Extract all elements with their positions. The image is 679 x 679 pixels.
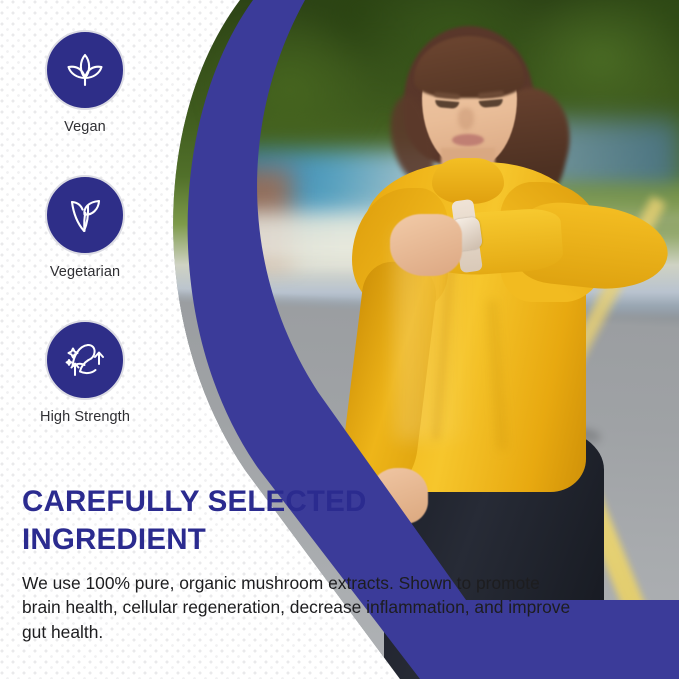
three-leaves-icon: [59, 44, 111, 96]
copy-block: CAREFULLY SELECTED INGREDIENT We use 100…: [22, 483, 582, 645]
badge-high-strength-label: High Strength: [0, 409, 170, 425]
badge-high-strength[interactable]: High Strength: [0, 320, 170, 425]
badge-vegetarian[interactable]: Vegetarian: [0, 175, 170, 280]
headline-line-2: INGREDIENT: [22, 523, 206, 556]
badge-vegan[interactable]: Vegan: [0, 30, 170, 135]
body-paragraph: We use 100% pure, organic mushroom extra…: [22, 571, 582, 645]
v-leaf-icon: [59, 189, 111, 241]
headline-line-1: CAREFULLY SELECTED: [22, 485, 367, 518]
badge-vegetarian-circle: [45, 175, 125, 255]
product-infographic-panel: Vegan Vegetarian: [0, 0, 679, 679]
badge-vegan-label: Vegan: [0, 119, 170, 135]
flexing-arm-icon: [58, 333, 112, 387]
badge-vegan-circle: [45, 30, 125, 110]
badge-high-strength-circle: [45, 320, 125, 400]
page-title: CAREFULLY SELECTED INGREDIENT: [22, 483, 582, 559]
lips: [452, 134, 484, 146]
nose: [458, 108, 474, 130]
badge-vegetarian-label: Vegetarian: [0, 264, 170, 280]
mock-neck-collar: [432, 158, 504, 204]
hand-right: [390, 214, 462, 276]
